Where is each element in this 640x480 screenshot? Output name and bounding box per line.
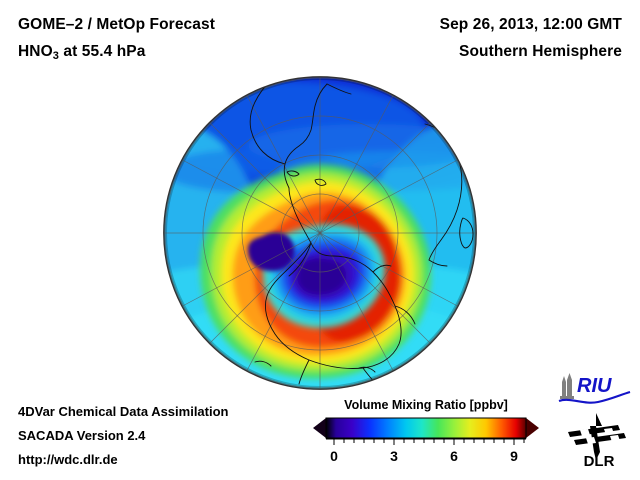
- species-level: at 55.4 hPa: [59, 43, 146, 60]
- dlr-logo-svg: DLR: [566, 412, 632, 468]
- footer-line-2: SACADA Version 2.4: [18, 428, 145, 443]
- colorbar-tick-6: 6: [450, 448, 458, 464]
- figure-canvas: GOME–2 / MetOp Forecast HNO3 at 55.4 hPa…: [0, 0, 640, 480]
- colorbar-tick-3: 3: [390, 448, 398, 464]
- colorbar-tick-labels: 0 3 6 9: [330, 448, 518, 464]
- valid-time-label: Sep 26, 2013, 12:00 GMT: [440, 16, 622, 34]
- riu-tower-icon: [560, 373, 574, 399]
- riu-wordmark: RIU: [577, 375, 612, 397]
- footer-line-1: 4DVar Chemical Data Assimilation: [18, 404, 229, 419]
- colorbar-title: Volume Mixing Ratio [ppbv]: [312, 398, 540, 412]
- riu-logo-svg: RIU: [558, 370, 632, 408]
- colorbar: Volume Mixing Ratio [ppbv]: [312, 398, 540, 474]
- colorbar-extend-right: [526, 418, 539, 438]
- colorbar-svg: 0 3 6 9: [312, 417, 540, 473]
- colorbar-extend-left: [313, 418, 326, 438]
- colorbar-ticks: [334, 439, 524, 445]
- footer-line-3[interactable]: http://wdc.dlr.de: [18, 452, 118, 467]
- hemisphere-label: Southern Hemisphere: [459, 43, 622, 61]
- page-title: GOME–2 / MetOp Forecast: [18, 16, 215, 34]
- map-globe: [163, 76, 477, 390]
- colorbar-tick-0: 0: [330, 448, 338, 464]
- colorbar-tick-9: 9: [510, 448, 518, 464]
- colorbar-gradient: [326, 418, 526, 438]
- dlr-logo: DLR: [566, 412, 632, 468]
- dlr-wordmark: DLR: [584, 453, 615, 468]
- orthographic-map-svg: [163, 76, 477, 390]
- riu-logo: RIU: [558, 370, 632, 408]
- species-prefix: HNO: [18, 43, 53, 60]
- species-subtitle: HNO3 at 55.4 hPa: [18, 43, 145, 62]
- graticule: [165, 78, 475, 388]
